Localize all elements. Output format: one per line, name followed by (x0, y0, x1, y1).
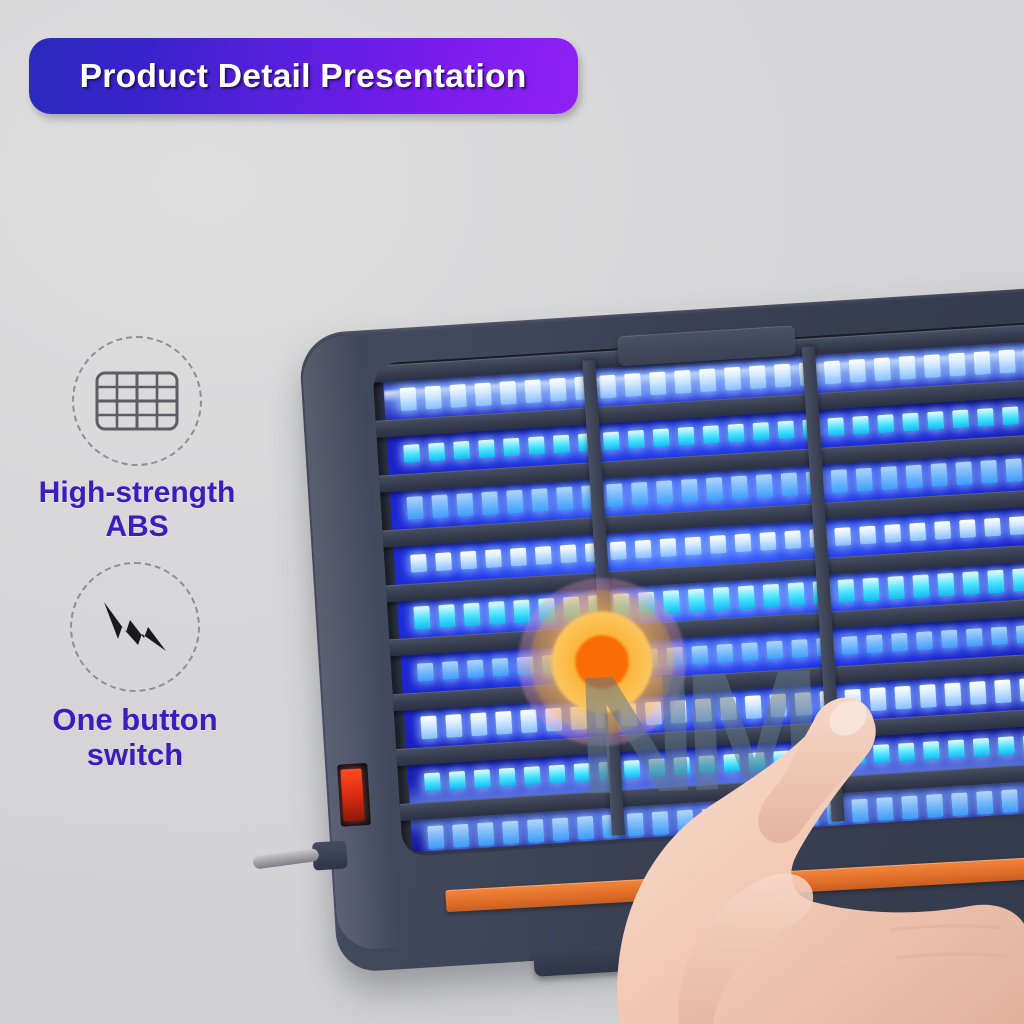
led-element (678, 427, 695, 446)
led-element (610, 541, 627, 560)
led-element (924, 354, 941, 378)
grid-mesh-icon (94, 370, 180, 432)
led-row (396, 454, 1024, 522)
led-element (874, 357, 891, 381)
led-element (731, 476, 748, 500)
led-element (435, 552, 452, 571)
led-element (799, 362, 816, 386)
led-element (653, 428, 670, 447)
led-element (606, 484, 623, 508)
led-element (403, 444, 420, 463)
led-element (781, 473, 798, 497)
feature-label: One button switch (10, 702, 260, 773)
led-element (524, 766, 541, 785)
led-element (578, 433, 595, 452)
led-element (420, 715, 437, 739)
led-element (962, 571, 979, 595)
led-element (535, 546, 552, 565)
led-element (635, 539, 652, 558)
led-element (474, 382, 491, 406)
led-element (984, 517, 1001, 536)
feature-badge-circle (72, 336, 202, 466)
led-element (445, 714, 462, 738)
power-switch-slot (337, 763, 371, 827)
led-row (400, 509, 1024, 577)
led-element (980, 460, 997, 484)
led-element (449, 771, 466, 790)
led-element (699, 368, 716, 392)
led-element (806, 471, 823, 495)
banner-header: Product Detail Presentation (29, 38, 578, 114)
led-element (881, 466, 898, 490)
led-element (749, 365, 766, 389)
feature-one-button-switch: One button switch (10, 562, 260, 773)
led-element (948, 352, 965, 376)
led-element (581, 485, 598, 509)
led-element (709, 535, 726, 554)
led-element (506, 490, 523, 514)
feature-label: High-strength ABS (12, 476, 262, 544)
led-element (431, 495, 448, 519)
led-element (556, 487, 573, 511)
led-element (912, 574, 929, 598)
led-element (470, 712, 487, 736)
feature-label-line2: ABS (12, 510, 262, 544)
page-title: Product Detail Presentation (80, 57, 527, 95)
led-element (553, 435, 570, 454)
led-element (998, 349, 1015, 373)
led-element (474, 769, 491, 788)
led-element (1009, 516, 1024, 535)
led-element (703, 425, 720, 444)
led-element (406, 496, 423, 520)
led-element (631, 482, 648, 506)
led-element (952, 409, 969, 428)
led-element (560, 544, 577, 563)
led-element (628, 430, 645, 449)
led-element (488, 601, 505, 625)
led-element (902, 413, 919, 432)
led-element (834, 527, 851, 546)
led-element (585, 543, 602, 562)
led-element (485, 549, 502, 568)
led-element (649, 371, 666, 395)
led-element (927, 411, 944, 430)
led-element (481, 492, 498, 516)
led-element (499, 768, 516, 787)
led-element (728, 424, 745, 443)
led-element (852, 416, 869, 435)
led-element (477, 822, 494, 846)
led-element (460, 550, 477, 569)
led-element (527, 819, 544, 843)
led-element (674, 369, 691, 393)
led-element (706, 477, 723, 501)
led-element (756, 474, 773, 498)
led-element (453, 441, 470, 460)
led-element (987, 570, 1004, 594)
led-element (424, 773, 441, 792)
led-element (681, 479, 698, 503)
lightning-bolt-icon (96, 596, 174, 658)
led-element (937, 573, 954, 597)
led-element (413, 606, 430, 630)
led-element (1012, 568, 1024, 592)
led-element (478, 439, 495, 458)
led-element (524, 379, 541, 403)
product-detail-image: Product Detail Presentation High-strengt… (0, 0, 1024, 1024)
led-element (824, 360, 841, 384)
led-element (495, 711, 512, 735)
led-element (802, 419, 819, 438)
led-element (862, 578, 879, 602)
led-element (502, 820, 519, 844)
feature-label-line1: High-strength (12, 476, 262, 510)
led-element (428, 442, 445, 461)
led-element (467, 660, 484, 679)
led-element (977, 408, 994, 427)
feature-badge-circle (70, 562, 200, 692)
led-element (934, 521, 951, 540)
led-element (425, 385, 442, 409)
led-element (905, 465, 922, 489)
led-element (449, 384, 466, 408)
led-element (510, 547, 527, 566)
led-element (831, 470, 848, 494)
led-element (955, 462, 972, 486)
led-element (427, 825, 444, 849)
led-element (463, 603, 480, 627)
led-element (400, 387, 417, 411)
led-element (1002, 406, 1019, 425)
led-element (827, 417, 844, 436)
led-element (887, 576, 904, 600)
feature-label-line2: switch (10, 737, 260, 772)
led-element (809, 528, 826, 547)
led-element (856, 468, 873, 492)
led-element (759, 532, 776, 551)
power-cable (252, 848, 319, 870)
feature-high-strength-abs: High-strength ABS (12, 336, 262, 544)
led-element (528, 436, 545, 455)
led-element (456, 493, 473, 517)
led-element (685, 536, 702, 555)
led-element (734, 533, 751, 552)
led-element (503, 438, 520, 457)
led-row (393, 399, 1024, 467)
led-element (417, 663, 434, 682)
pointing-hand (560, 600, 1024, 1024)
led-element (849, 358, 866, 382)
led-element (774, 363, 791, 387)
led-element (442, 661, 459, 680)
led-element (859, 525, 876, 544)
led-element (724, 366, 741, 390)
red-rocker-switch[interactable] (340, 768, 364, 821)
led-element (884, 524, 901, 543)
led-element (784, 530, 801, 549)
led-element (1005, 459, 1022, 483)
led-element (438, 604, 455, 628)
led-element (574, 376, 591, 400)
led-element (549, 377, 566, 401)
feature-label-line1: One button (10, 702, 260, 737)
led-element (909, 522, 926, 541)
led-element (930, 463, 947, 487)
led-element (492, 658, 509, 677)
led-element (452, 823, 469, 847)
led-element (656, 481, 673, 505)
led-element (973, 351, 990, 375)
led-element (959, 519, 976, 538)
led-element (531, 488, 548, 512)
led-element (499, 380, 516, 404)
led-element (624, 373, 641, 397)
led-element (877, 414, 894, 433)
led-element (410, 554, 427, 573)
led-element (599, 374, 616, 398)
led-element (660, 538, 677, 557)
led-element (603, 431, 620, 450)
led-element (899, 355, 916, 379)
led-element (752, 422, 769, 441)
led-element (777, 420, 794, 439)
